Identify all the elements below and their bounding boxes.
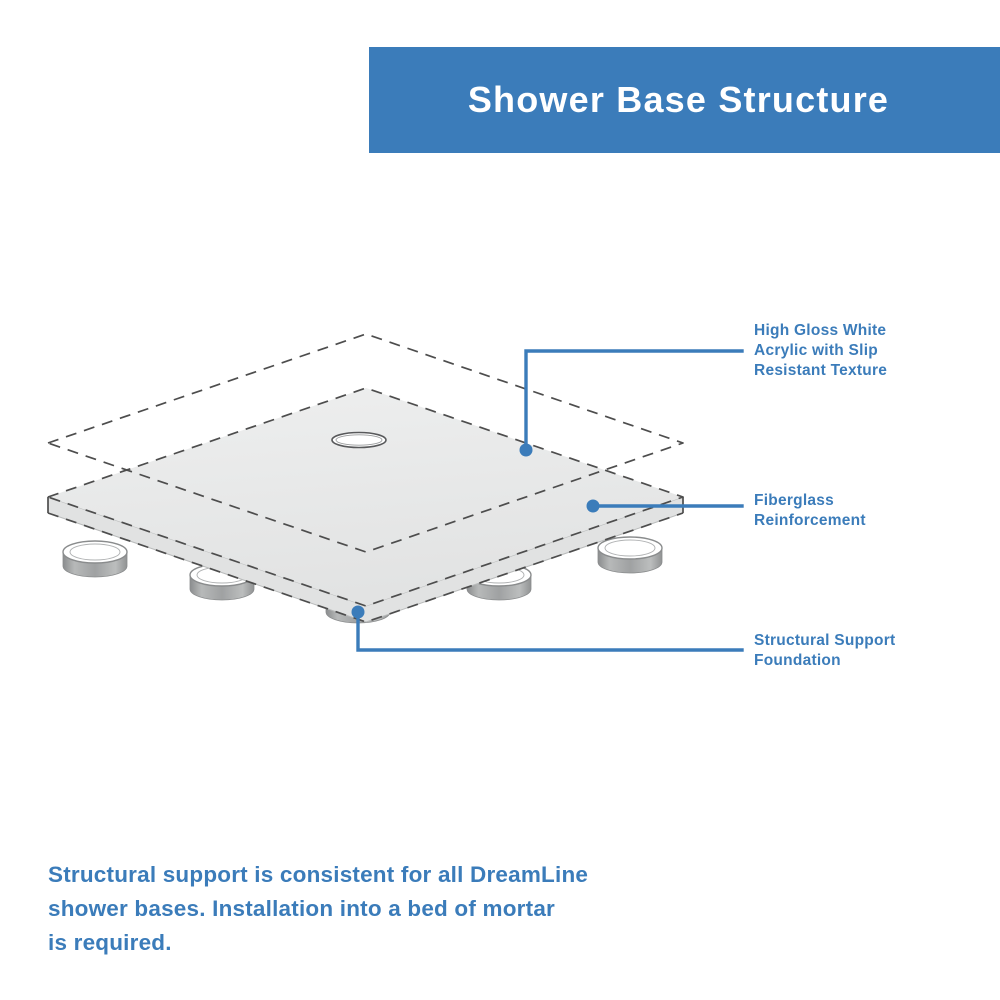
page-title: Shower Base Structure bbox=[468, 79, 889, 121]
leader-line-acrylic bbox=[520, 351, 743, 457]
footer-caption: Structural support is consistent for all… bbox=[48, 858, 688, 960]
support-ring bbox=[326, 587, 390, 623]
leader-line-fiberglass bbox=[587, 500, 743, 513]
leader-line-support bbox=[352, 606, 743, 651]
acrylic-top-plane bbox=[48, 334, 683, 552]
support-ring bbox=[467, 529, 531, 565]
callout-label-fiberglass: Fiberglass Reinforcement bbox=[754, 491, 974, 531]
header-bar: Shower Base Structure bbox=[369, 47, 1000, 153]
leader-anchor-dot bbox=[587, 500, 600, 513]
diagram-canvas: Shower Base Structure bbox=[0, 0, 1000, 1000]
callout-label-support: Structural Support Foundation bbox=[754, 631, 974, 671]
support-ring bbox=[63, 541, 127, 577]
drain-opening-icon bbox=[332, 433, 386, 448]
support-ring bbox=[598, 537, 662, 573]
support-ring bbox=[467, 564, 531, 600]
callout-label-acrylic: High Gloss White Acrylic with Slip Resis… bbox=[754, 321, 974, 381]
leader-anchor-dot bbox=[352, 606, 365, 619]
support-ring bbox=[190, 529, 254, 565]
callout-leader-lines bbox=[352, 351, 743, 650]
fiberglass-reinforcement-slab bbox=[48, 388, 683, 622]
support-ring bbox=[326, 552, 390, 588]
support-rings-group bbox=[63, 529, 662, 623]
support-ring bbox=[190, 564, 254, 600]
leader-anchor-dot bbox=[520, 444, 533, 457]
